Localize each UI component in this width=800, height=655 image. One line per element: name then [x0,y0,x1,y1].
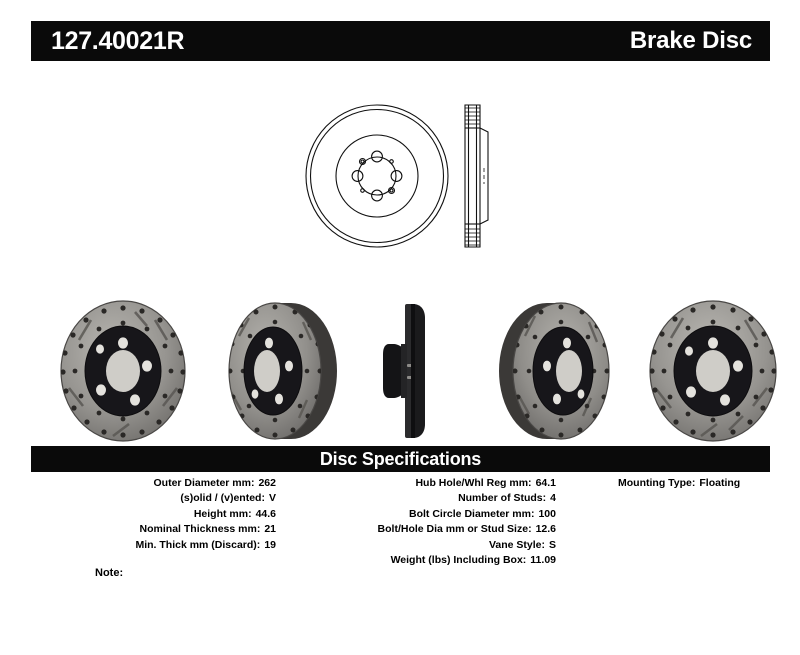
spec-value: Floating [695,476,740,491]
rotor-photo-edge-profile [371,296,461,446]
spec-value: 4 [546,491,556,506]
spec-label: Vane Style: [489,538,545,553]
spec-label: Nominal Thickness mm: [140,522,261,537]
spec-row: Outer Diameter mm: 262 [31,476,276,491]
spec-value: 12.6 [532,522,556,537]
spec-label: (s)olid / (v)ented: [180,491,265,506]
spec-column-dimensions: Outer Diameter mm: 262 (s)olid / (v)ente… [31,476,276,553]
spec-label: Weight (lbs) Including Box: [391,553,527,568]
spec-row: Weight (lbs) Including Box: 11.09 [276,553,556,568]
header-bar: 127.40021R Brake Disc [31,21,770,61]
spec-label: Hub Hole/Whl Reg mm: [415,476,531,491]
spec-row: Vane Style: S [276,538,556,553]
spec-row: Min. Thick mm (Discard): 19 [31,538,276,553]
technical-drawing [305,88,505,273]
spec-label: Height mm: [194,507,252,522]
note-area: Note: [31,568,770,628]
spec-row: Bolt/Hole Dia mm or Stud Size: 12.6 [276,522,556,537]
spec-value: V [265,491,276,506]
rotor-photo-three-quarter-right [483,296,633,446]
spec-row: Hub Hole/Whl Reg mm: 64.1 [276,476,556,491]
spec-value: 21 [260,522,276,537]
spec-row: Nominal Thickness mm: 21 [31,522,276,537]
spec-label: Outer Diameter mm: [154,476,255,491]
spec-value: 19 [260,538,276,553]
page-title: Brake Disc [630,29,752,53]
spec-column-mounting: Hub Hole/Whl Reg mm: 64.1 Number of Stud… [276,476,556,568]
rotor-line-drawing-svg [305,88,505,273]
spec-label: Min. Thick mm (Discard): [135,538,260,553]
spec-columns: Outer Diameter mm: 262 (s)olid / (v)ente… [31,476,770,576]
rotor-photo-front-angled-left [43,296,203,446]
spec-label: Mounting Type: [618,476,695,491]
spec-title-bar: Disc Specifications [31,446,770,472]
spec-row: (s)olid / (v)ented: V [31,491,276,506]
spec-row: Mounting Type: Floating [576,476,770,491]
spec-value: 64.1 [532,476,556,491]
spec-value: 100 [534,507,556,522]
rotor-photo-three-quarter-left [203,296,353,446]
spec-row: Bolt Circle Diameter mm: 100 [276,507,556,522]
spec-value: 11.09 [526,553,556,568]
spec-row: Height mm: 44.6 [31,507,276,522]
spec-row: Number of Studs: 4 [276,491,556,506]
spec-column-type: Mounting Type: Floating [576,476,770,491]
spec-sheet: 127.40021R Brake Disc [0,0,800,655]
product-photo-row [31,296,770,446]
spec-title: Disc Specifications [320,450,481,468]
spec-value: 44.6 [252,507,276,522]
spec-value: S [545,538,556,553]
note-label: Note: [95,568,123,579]
rotor-photo-front-angled-right [633,296,793,446]
spec-label: Bolt/Hole Dia mm or Stud Size: [378,522,532,537]
spec-label: Bolt Circle Diameter mm: [409,507,534,522]
spec-value: 262 [254,476,276,491]
part-number: 127.40021R [51,29,184,54]
spec-label: Number of Studs: [458,491,546,506]
